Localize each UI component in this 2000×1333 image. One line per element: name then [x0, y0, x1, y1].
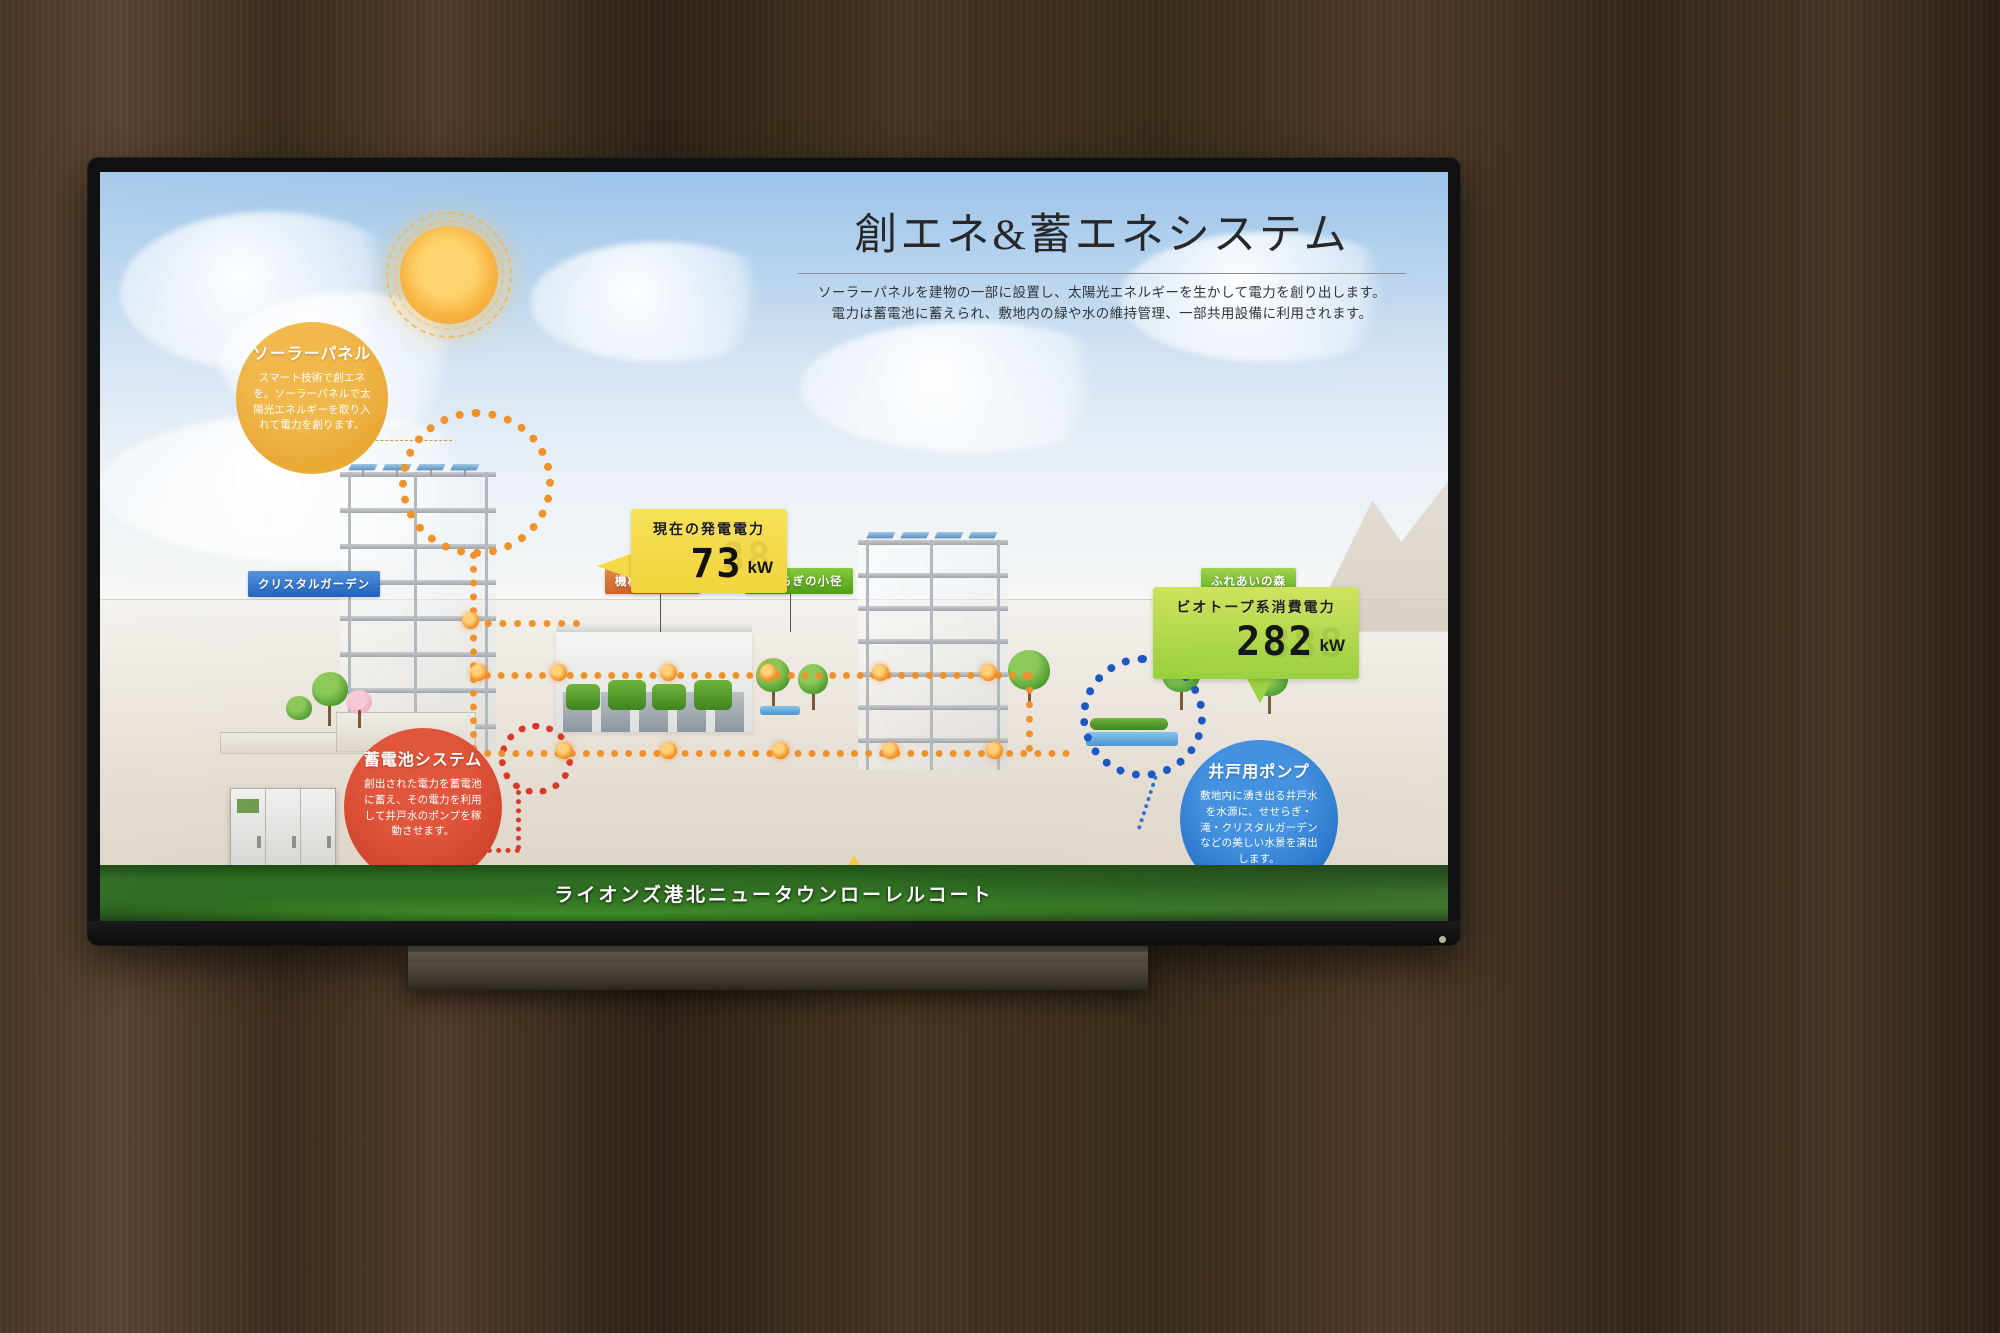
battery-link-vertical: [516, 790, 521, 850]
sun-icon: [400, 226, 498, 324]
flow-node: [462, 612, 479, 629]
tag-crystal-garden[interactable]: クリスタルガーデン: [248, 571, 380, 597]
signage-screen[interactable]: 創エネ&蓄エネシステム ソーラーパネルを建物の一部に設置し、太陽光エネルギーを生…: [100, 172, 1448, 921]
tv-bezel-bottom: [88, 921, 1460, 945]
badge-pump-body: 敷地内に湧き出る井戸水を水源に、せせらぎ・滝・クリスタルガーデンなどの美しい水景…: [1196, 789, 1322, 868]
flow-node: [772, 742, 789, 759]
generation-panel[interactable]: 現在の発電電力 88 73 kW: [631, 509, 787, 593]
parking-tag-leader: [660, 592, 661, 632]
badge-solar-panel[interactable]: ソーラーパネル スマート技術で創エネを。ソーラーパネルで太陽光エネルギーを取り入…: [236, 322, 388, 474]
cloud: [530, 242, 790, 362]
building-tower-right: [858, 540, 1008, 770]
badge-battery-body: 創出された電力を蓄電池に蓄え、その電力を利用して井戸水のポンプを稼動させます。: [360, 777, 486, 840]
flow-node: [550, 664, 567, 681]
flow-node: [882, 742, 899, 759]
biotope-ghost-digits: 888: [1267, 621, 1345, 667]
flow-node: [556, 742, 573, 759]
flow-branch-a: [470, 620, 580, 627]
flow-node: [980, 664, 997, 681]
property-name-text: ライオンズ港北ニュータウンローレルコート: [554, 880, 993, 907]
solar-panel-unit: [969, 532, 998, 538]
flow-node: [660, 664, 677, 681]
solar-flow-ring: [399, 409, 554, 557]
solar-panel-unit: [901, 532, 930, 538]
badge-solar-title: ソーラーパネル: [253, 340, 372, 364]
water-feature: [760, 706, 800, 715]
flow-node: [986, 742, 1003, 759]
tv-stand-lip: [408, 952, 1148, 962]
solar-panel-unit: [935, 532, 964, 538]
badge-pump-title: 井戸用ポンプ: [1208, 758, 1310, 782]
page-title: 創エネ&蓄エネシステム: [792, 200, 1412, 262]
tree: [312, 672, 348, 706]
tree: [798, 664, 828, 694]
roof-greenery: [652, 684, 686, 710]
tree: [286, 696, 312, 720]
generation-ghost-digits: 88: [721, 535, 773, 581]
badge-solar-body: スマート技術で創エネを。ソーラーパネルで太陽光エネルギーを取り入れて電力を創りま…: [252, 371, 372, 434]
signage-tv: 創エネ&蓄エネシステム ソーラーパネルを建物の一部に設置し、太陽光エネルギーを生…: [88, 158, 1460, 945]
cloud: [800, 322, 1140, 452]
biotope-panel-pointer: [1246, 677, 1274, 703]
flow-vertical-right: [1026, 672, 1033, 752]
solar-panel-unit: [867, 532, 896, 538]
header-description: ソーラーパネルを建物の一部に設置し、太陽光エネルギーを生かして電力を創り出します…: [792, 283, 1412, 325]
path-tag-leader: [790, 592, 791, 632]
flow-vertical-left: [470, 552, 477, 752]
power-led-indicator: [1439, 936, 1446, 943]
generation-panel-pointer: [597, 553, 633, 579]
badge-battery-title: 蓄電池システム: [364, 746, 483, 770]
roof-greenery: [566, 684, 600, 710]
description-line-2: 電力は蓄電池に蓄えられ、敷地内の緑や水の維持管理、一部共用設備に利用されます。: [792, 304, 1412, 325]
flow-node: [872, 664, 889, 681]
roof-greenery: [694, 680, 732, 710]
flow-node: [660, 742, 677, 759]
roof-greenery: [608, 680, 646, 710]
battery-flow-ring: [499, 723, 573, 795]
flow-node: [760, 664, 777, 681]
property-name-banner: ライオンズ港北ニュータウンローレルコート: [100, 865, 1448, 921]
biotope-panel[interactable]: ビオトープ系消費電力 888 282 kW: [1153, 587, 1359, 679]
flow-node: [470, 664, 487, 681]
badge-battery-system[interactable]: 蓄電池システム 創出された電力を蓄電池に蓄え、その電力を利用して井戸水のポンプを…: [344, 728, 502, 886]
biotope-label: ビオトープ系消費電力: [1167, 597, 1345, 617]
title-divider: [798, 273, 1406, 274]
header-block: 創エネ&蓄エネシステム ソーラーパネルを建物の一部に設置し、太陽光エネルギーを生…: [792, 200, 1412, 325]
description-line-1: ソーラーパネルを建物の一部に設置し、太陽光エネルギーを生かして電力を創り出します…: [792, 283, 1412, 304]
